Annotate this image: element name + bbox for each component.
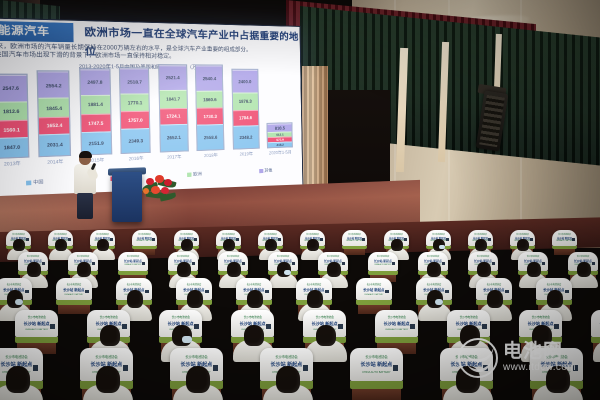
chair-qr-code bbox=[488, 238, 491, 241]
chair-subtitle: CHINA AUTO BATTERY bbox=[374, 265, 391, 266]
chair-org-logo: 长沙市电池协会 bbox=[486, 282, 501, 286]
chair-qr-code bbox=[205, 290, 209, 294]
chair-qr-code bbox=[542, 262, 545, 265]
chair-qr-code bbox=[194, 324, 199, 329]
chart-bar-segment: 1881.4 bbox=[81, 95, 110, 114]
chair-qr-code bbox=[325, 290, 329, 294]
face-mask bbox=[284, 270, 291, 275]
chart-bar-segment: 2348.2 bbox=[233, 125, 258, 148]
chair-qr-code bbox=[145, 290, 149, 294]
chair-calligraphy: 长沙站 新起点 bbox=[137, 236, 152, 240]
chart-legend-swatch bbox=[259, 169, 263, 173]
chair-subtitle: CHINA AUTO BATTERY bbox=[556, 241, 573, 242]
chair-subtitle: CHINA AUTO BATTERY bbox=[362, 371, 390, 374]
chair-qr-code bbox=[236, 238, 239, 241]
chart-x-tick: 2013年 bbox=[4, 160, 21, 168]
audience-member-head bbox=[13, 239, 24, 251]
chart-bar-segment: 2031.4 bbox=[40, 133, 71, 155]
chair-qr-code bbox=[320, 238, 323, 241]
chart-bar-segment: 448.2 bbox=[268, 142, 292, 147]
chart-bar-segment: 1845.4 bbox=[39, 98, 70, 118]
slide-title: 欧洲市场一直在全球汽车产业中占据重要的地位 bbox=[73, 23, 300, 46]
chart-x-tick: 2016年 bbox=[129, 155, 144, 162]
chair-calligraphy: 长沙站 新起点 bbox=[63, 287, 84, 292]
chair-qr-code bbox=[85, 290, 89, 294]
watermark: 电池网 www.itdcw.com bbox=[458, 338, 576, 378]
chart-bar-segment: 1747.5 bbox=[81, 114, 110, 132]
chair-qr-code bbox=[410, 324, 415, 329]
chair-subtitle: CHINA AUTO BATTERY bbox=[64, 294, 83, 296]
chair-qr-code bbox=[213, 365, 219, 371]
chair-subtitle: CHINA AUTO BATTERY bbox=[25, 329, 48, 331]
chart-bar-segment: 2558.6 bbox=[197, 124, 223, 149]
chart-legend-label: 中国 bbox=[33, 179, 43, 186]
chair-qr-code bbox=[505, 290, 509, 294]
chart-x-tick: 2018年 bbox=[204, 152, 218, 159]
audience-member-head bbox=[97, 239, 108, 251]
chart-bar-column: 448.2575.9612.1810.52020年1-5月 bbox=[267, 122, 294, 156]
chair-wood-back bbox=[58, 305, 90, 314]
chair-qr-code bbox=[446, 238, 449, 241]
chair-org-logo: 长沙市电池协会 bbox=[177, 255, 190, 258]
chair-qr-code bbox=[152, 238, 155, 241]
chair-qr-code bbox=[342, 262, 345, 265]
chart-bar-segment: 2554.2 bbox=[38, 71, 69, 98]
chart-bar-segment: 1652.4 bbox=[39, 117, 70, 135]
chair-qr-code bbox=[92, 262, 95, 265]
audience-chair-cover: 长沙市电池协会长沙站 新起点CHINA AUTO BATTERY bbox=[375, 310, 418, 337]
chair-subtitle: CHINA AUTO BATTERY bbox=[124, 265, 141, 266]
audience-member-head bbox=[181, 239, 192, 251]
chair-org-logo: 长沙市电池协会 bbox=[277, 255, 290, 258]
chair-org-logo: 长沙市电池协会 bbox=[186, 282, 201, 286]
chair-org-logo: 长沙市电池协会 bbox=[306, 282, 321, 286]
chair-org-logo: 长沙市电池协会 bbox=[244, 315, 262, 319]
audience-member-head bbox=[517, 239, 528, 251]
chart-bar-segment: 2521.4 bbox=[159, 65, 186, 90]
chair-qr-code bbox=[392, 262, 395, 265]
chart-legend-item: 欧洲 bbox=[187, 171, 202, 178]
chair-org-logo: 长沙市电池协会 bbox=[546, 282, 561, 286]
chair-qr-code bbox=[385, 290, 389, 294]
chair-qr-code bbox=[565, 290, 569, 294]
audience-member-head bbox=[186, 366, 210, 392]
chart-bar-segment: 1841.7 bbox=[159, 90, 186, 108]
chart-bar-segment: 1876.3 bbox=[233, 92, 258, 110]
chair-org-logo: 长沙市电池协会 bbox=[327, 255, 340, 258]
chair-org-logo: 长沙市电池协会 bbox=[222, 233, 235, 236]
chair-org-logo: 长沙市电池协会 bbox=[316, 315, 334, 319]
chair-qr-code bbox=[194, 238, 197, 241]
chart-bar-segment: 2497.8 bbox=[80, 69, 110, 95]
chart-bar-segment: 2518.7 bbox=[120, 68, 148, 93]
audience-member-head bbox=[6, 366, 30, 392]
chair-org-logo: 长沙市电池协会 bbox=[527, 255, 540, 258]
chair-org-logo: 长沙市电池协会 bbox=[264, 233, 277, 236]
audience-chair-cover: 长沙市电池协会长沙站 新起点CHINA AUTO BATTERY bbox=[552, 230, 577, 246]
chair-calligraphy: 长沙站 新起点 bbox=[384, 321, 410, 327]
chart-x-tick: 2019年 bbox=[240, 151, 253, 158]
chair-wood-back bbox=[352, 389, 401, 400]
chart-bar-column: 2031.41652.41845.42554.22014年 bbox=[37, 70, 72, 166]
presenter-legs bbox=[77, 193, 93, 219]
chart-legend-item: 中国 bbox=[26, 179, 43, 187]
chart-stacked-bar: 1847.01560.11812.62547.6 bbox=[0, 73, 29, 158]
audience-chair-cover: 长沙市电池协会长沙站 新起点CHINA AUTO BATTERY bbox=[342, 230, 367, 246]
chart-stacked-bar: 2349.31757.01770.12518.7 bbox=[119, 67, 151, 153]
chair-subtitle: CHINA AUTO BATTERY bbox=[385, 329, 408, 331]
chair-qr-code bbox=[142, 262, 145, 265]
chair-calligraphy: 长沙站 新起点 bbox=[347, 236, 362, 240]
chair-org-logo: 长沙市电池协会 bbox=[365, 354, 387, 359]
slide-header: 新能源汽车 欧洲市场一直在全球汽车产业中占据重要的地位 bbox=[0, 20, 300, 46]
chair-subtitle: CHINA AUTO BATTERY bbox=[136, 241, 153, 242]
chair-qr-code bbox=[362, 238, 365, 241]
chair-org-logo: 长沙市电池协会 bbox=[532, 315, 550, 319]
chair-org-logo: 长沙市电池协会 bbox=[577, 255, 590, 258]
chart-x-tick: 2014年 bbox=[47, 159, 63, 166]
audience-member-head bbox=[96, 366, 120, 392]
chair-org-logo: 长沙市电池协会 bbox=[138, 233, 151, 236]
chair-org-logo: 长沙市电池协会 bbox=[180, 233, 193, 236]
audience-member-head bbox=[327, 262, 341, 277]
audience-member-head bbox=[100, 325, 120, 347]
chair-qr-code bbox=[442, 262, 445, 265]
audience-member-head bbox=[427, 262, 441, 277]
chart-plot-area: 1847.01560.11812.62547.62013年2031.41652.… bbox=[0, 72, 297, 168]
face-mask bbox=[182, 336, 192, 343]
audience-member-head bbox=[477, 262, 491, 277]
chart-bar-segment: 1847.0 bbox=[0, 137, 28, 158]
chart-legend-label: 欧洲 bbox=[193, 171, 202, 178]
chair-org-logo: 长沙市电池协会 bbox=[6, 282, 21, 286]
chair-org-logo: 长沙市电池协会 bbox=[275, 354, 297, 359]
audience-member-head bbox=[487, 290, 503, 308]
chart-bar-segment: 1560.1 bbox=[0, 120, 27, 137]
chair-base bbox=[350, 381, 403, 389]
chair-calligraphy: 长沙站 新起点 bbox=[361, 361, 393, 368]
chair-qr-code bbox=[25, 290, 29, 294]
chart-bar-segment: 2400.0 bbox=[232, 69, 257, 92]
audience-chair-cover: 长沙市电池协会长沙站 新起点CHINA AUTO BATTERY bbox=[56, 278, 92, 300]
chart-stacked-bar: 2151.91747.51881.42497.8 bbox=[79, 68, 112, 155]
chair-qr-code bbox=[572, 238, 575, 241]
chair-subtitle: CHINA AUTO BATTERY bbox=[346, 241, 363, 242]
audience-member-head bbox=[223, 239, 234, 251]
presenter bbox=[72, 152, 98, 218]
chair-org-logo: 长沙市电池协会 bbox=[432, 233, 445, 236]
chair-org-logo: 长沙市电池协会 bbox=[5, 354, 27, 359]
chair-qr-code bbox=[122, 324, 127, 329]
chart-bar-segment: 1860.6 bbox=[197, 90, 223, 108]
audience-chair-cover: 长沙市电池协会长沙站 新起点CHINA AUTO BATTERY bbox=[368, 252, 398, 271]
chair-qr-code bbox=[50, 324, 55, 329]
chart-bar-column: 2348.21704.61876.32400.02019年 bbox=[231, 68, 260, 158]
chair-org-logo: 长沙市电池协会 bbox=[388, 315, 406, 319]
chart-bar-segment: 1724.1 bbox=[160, 108, 187, 125]
audience-member-head bbox=[307, 290, 323, 308]
audience-chair-cover: 长沙市电池协会长沙站 新起点CHINA AUTO BATTERY bbox=[132, 230, 157, 246]
chair-qr-code bbox=[554, 324, 559, 329]
chart-x-tick: 2017年 bbox=[167, 154, 182, 161]
audience-member-head bbox=[391, 239, 402, 251]
chart-bar-segment: 1730.3 bbox=[197, 108, 223, 125]
audience-member-head bbox=[577, 262, 591, 277]
audience-member-head bbox=[77, 262, 91, 277]
audience-member-head bbox=[127, 290, 143, 308]
chair-org-logo: 长沙市电池协会 bbox=[54, 233, 67, 236]
chart-bar-column: 2558.61730.31860.62540.42018年 bbox=[195, 65, 225, 160]
chair-qr-code bbox=[42, 262, 45, 265]
chair-org-logo: 长沙市电池协会 bbox=[12, 233, 25, 236]
chair-qr-code bbox=[530, 238, 533, 241]
audience-member-head bbox=[187, 290, 203, 308]
watermark-url: www.itdcw.com bbox=[503, 362, 576, 374]
chair-wood-back bbox=[344, 249, 365, 255]
chair-org-logo: 长沙市电池协会 bbox=[460, 315, 478, 319]
chair-calligraphy: 长沙站 新起点 bbox=[124, 259, 142, 263]
slide-header-tab: 新能源汽车 bbox=[0, 20, 74, 42]
audience-member-head bbox=[276, 366, 300, 392]
audience-chair-cover: 长沙市电池协会长沙站 新起点CHINA AUTO BATTERY bbox=[350, 348, 403, 381]
audience-member-head bbox=[316, 325, 336, 347]
chair-org-logo: 长沙市电池协会 bbox=[366, 282, 381, 286]
audience-member-head bbox=[527, 262, 541, 277]
chair-org-logo: 长沙市电池协会 bbox=[66, 282, 81, 286]
chair-org-logo: 长沙市电池协会 bbox=[28, 315, 46, 319]
chair-qr-code bbox=[278, 238, 281, 241]
chart-bar-column: 1847.01560.11812.62547.62013年 bbox=[0, 73, 29, 168]
chair-org-logo: 长沙市电池协会 bbox=[426, 282, 441, 286]
chair-calligraphy: 长沙站 新起点 bbox=[363, 287, 384, 292]
chair-calligraphy: 长沙站 新起点 bbox=[24, 321, 50, 327]
chair-org-logo: 长沙市电池协会 bbox=[172, 315, 190, 319]
audience-chair-cover: 长沙市电池协会长沙站 新起点CHINA AUTO BATTERY bbox=[356, 278, 392, 300]
chart-stacked-bar: 2558.61730.31860.62540.4 bbox=[195, 65, 225, 151]
chart-bar-segment: 2652.1 bbox=[160, 124, 187, 151]
chart-bar-segment: 2547.6 bbox=[0, 75, 27, 102]
chair-qr-code bbox=[482, 324, 487, 329]
itdcw-logo-icon bbox=[458, 338, 498, 378]
chair-org-logo: 长沙市电池协会 bbox=[96, 233, 109, 236]
chart-stacked-bar: 448.2575.9612.1810.5 bbox=[267, 122, 293, 147]
conference-hall-photo: 新能源汽车 欧洲市场一直在全球汽车产业中占据重要的地位 2013年以来，欧洲市场… bbox=[0, 0, 600, 400]
chair-subtitle: CHINA AUTO BATTERY bbox=[364, 294, 383, 296]
chair-org-logo: 长沙市电池协会 bbox=[516, 233, 529, 236]
chair-qr-code bbox=[445, 290, 449, 294]
chair-org-logo: 长沙市电池协会 bbox=[185, 354, 207, 359]
chart-legend-swatch bbox=[26, 181, 31, 186]
chair-qr-code bbox=[592, 262, 595, 265]
audience-member-head bbox=[244, 325, 264, 347]
chair-qr-code bbox=[192, 262, 195, 265]
chair-qr-code bbox=[393, 365, 399, 371]
chair-org-logo: 长沙市电池协会 bbox=[127, 255, 140, 258]
chair-org-logo: 长沙市电池协会 bbox=[306, 233, 319, 236]
chair-qr-code bbox=[110, 238, 113, 241]
chair-qr-code bbox=[242, 262, 245, 265]
chart-bar-segment: 2540.4 bbox=[196, 66, 222, 90]
audience-member-head bbox=[547, 290, 563, 308]
chair-org-logo: 长沙市电池协会 bbox=[558, 233, 571, 236]
chart-stacked-bar: 2031.41652.41845.42554.2 bbox=[37, 70, 72, 157]
chair-org-logo: 长沙市电池协会 bbox=[227, 255, 240, 258]
chart-bar-segment: 1704.6 bbox=[233, 109, 258, 126]
chair-org-logo: 长沙市电池协会 bbox=[348, 233, 361, 236]
chair-org-logo: 长沙市电池协会 bbox=[77, 255, 90, 258]
chart-legend-label: 其他 bbox=[264, 167, 272, 174]
chair-qr-code bbox=[303, 365, 309, 371]
chair-org-logo: 长沙市电池协会 bbox=[126, 282, 141, 286]
audience-member-head bbox=[475, 239, 486, 251]
chart-bar-segment: 1757.0 bbox=[121, 111, 149, 129]
watermark-brand: 电池网 bbox=[503, 342, 576, 362]
chart-legend-swatch bbox=[187, 173, 191, 177]
chart-bar-segment: 2349.3 bbox=[122, 128, 150, 152]
chart-stacked-bar: 2652.11724.11841.72521.4 bbox=[158, 64, 189, 152]
chair-org-logo: 长沙市电池协会 bbox=[477, 255, 490, 258]
chair-qr-code bbox=[338, 324, 343, 329]
chair-org-logo: 长沙市电池协会 bbox=[246, 282, 261, 286]
flower-arrangement bbox=[140, 170, 180, 206]
audience-member-head bbox=[55, 239, 66, 251]
audience-member-head bbox=[247, 290, 263, 308]
podium bbox=[112, 172, 142, 222]
chair-org-logo: 长沙市电池协会 bbox=[95, 354, 117, 359]
chair-org-logo: 长沙市电池协会 bbox=[27, 255, 40, 258]
chart-bar-segment: 1770.1 bbox=[121, 93, 149, 111]
audience-member-head bbox=[265, 239, 276, 251]
audience-chair-cover: 长沙市电池协会长沙站 新起点CHINA AUTO BATTERY bbox=[15, 310, 58, 337]
chair-qr-code bbox=[265, 290, 269, 294]
chair-calligraphy: 长沙站 新起点 bbox=[557, 236, 572, 240]
audience-chair-cover: 长沙市电池协会长沙站 新起点CHINA AUTO BATTERY bbox=[118, 252, 148, 271]
chair-org-logo: 长沙市电池协会 bbox=[377, 255, 390, 258]
chair-qr-code bbox=[68, 238, 71, 241]
chart-stacked-bar: 2348.21704.61876.32400.0 bbox=[231, 68, 259, 149]
audience-member-head bbox=[307, 239, 318, 251]
audience-chair-cover: 长沙市电池协会长沙站 新起点CHINA AUTO BATTERY bbox=[591, 310, 600, 337]
audience-member-head bbox=[27, 262, 41, 277]
chair-calligraphy: 长沙站 新起点 bbox=[374, 259, 392, 263]
chair-qr-code bbox=[492, 262, 495, 265]
presenter-hair bbox=[79, 151, 92, 158]
audience-member-head bbox=[177, 262, 191, 277]
chair-org-logo: 长沙市电池协会 bbox=[474, 233, 487, 236]
chair-qr-code bbox=[404, 238, 407, 241]
chair-qr-code bbox=[33, 365, 39, 371]
chart-x-tick: 2020年1-5月 bbox=[269, 149, 292, 156]
chair-org-logo: 长沙市电池协会 bbox=[390, 233, 403, 236]
chair-qr-code bbox=[123, 365, 129, 371]
chart-bar-segment: 1812.6 bbox=[0, 101, 27, 121]
chair-qr-code bbox=[26, 238, 29, 241]
chart-legend-item: 其他 bbox=[259, 167, 273, 174]
chair-qr-code bbox=[292, 262, 295, 265]
chair-org-logo: 长沙市电池协会 bbox=[100, 315, 118, 319]
chair-qr-code bbox=[266, 324, 271, 329]
audience-member-head bbox=[227, 262, 241, 277]
chart-bar-column: 2349.31757.01770.12518.72016年 bbox=[119, 67, 151, 163]
chair-org-logo: 长沙市电池协会 bbox=[427, 255, 440, 258]
chart-bar-column: 2652.11724.11841.72521.42017年 bbox=[158, 64, 189, 161]
